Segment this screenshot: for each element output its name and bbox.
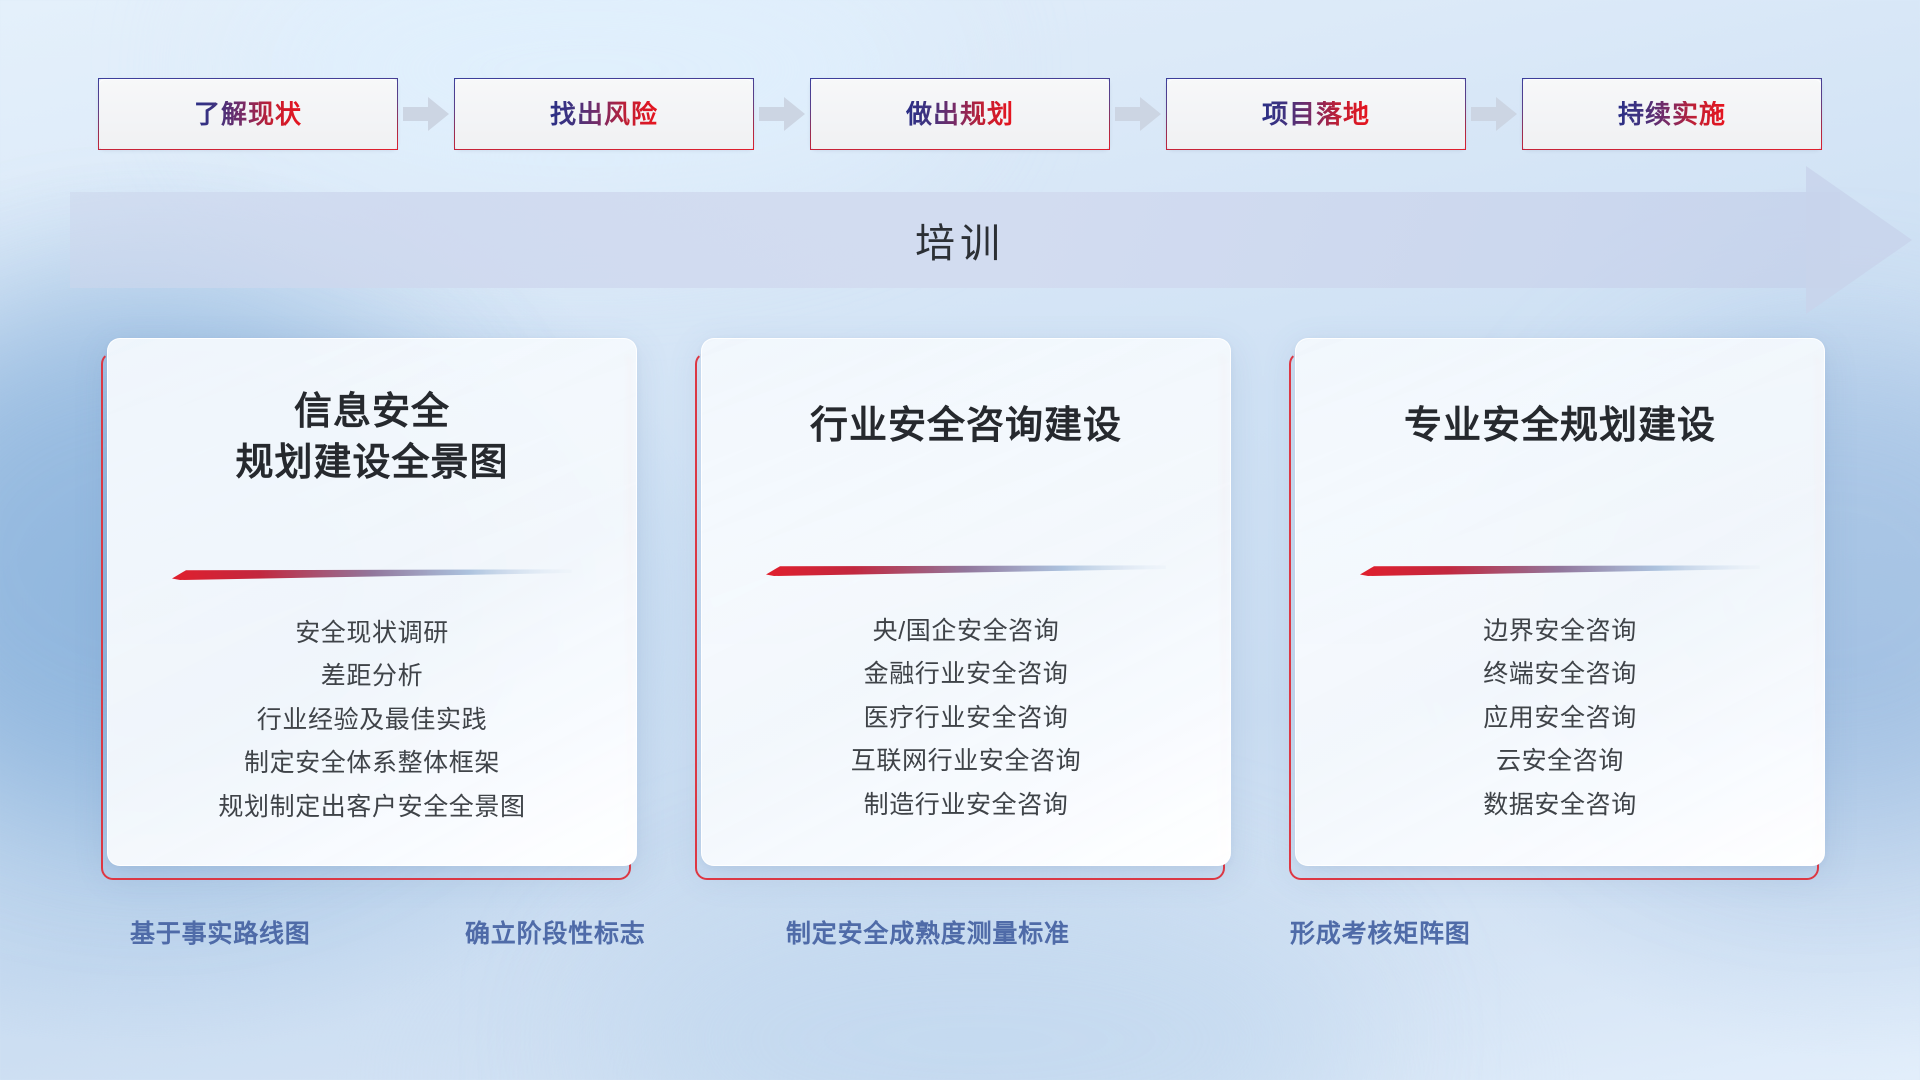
card-title: 专业安全规划建设 xyxy=(1334,401,1786,452)
process-step-row: 了解现状 找出风险 做出规划 项目落地 持续实施 xyxy=(0,78,1920,150)
background-glow-bottom xyxy=(600,880,1360,1080)
card-divider xyxy=(172,569,572,580)
list-item: 云安全咨询 xyxy=(1496,748,1624,776)
step-box-4[interactable]: 项目落地 xyxy=(1166,78,1466,150)
training-banner: 培训 xyxy=(0,192,1920,288)
card-information-security-blueprint[interactable]: 信息安全 规划建设全景图 安全现状调研 xyxy=(101,338,631,878)
step-box-3[interactable]: 做出规划 xyxy=(810,78,1110,150)
list-item: 终端安全咨询 xyxy=(1483,661,1637,689)
card-panel: 专业安全规划建设 边界安全咨询 xyxy=(1295,338,1825,866)
footer-label-3: 制定安全成熟度测量标准 xyxy=(786,912,1070,952)
step-arrow-icon-2 xyxy=(754,78,810,150)
step-box-5[interactable]: 持续实施 xyxy=(1522,78,1822,150)
card-professional-security-planning[interactable]: 专业安全规划建设 边界安全咨询 xyxy=(1289,338,1819,878)
list-item: 数据安全咨询 xyxy=(1483,792,1637,820)
card-panel: 行业安全咨询建设 央/国企安全咨询 xyxy=(701,338,1231,866)
banner-label: 培训 xyxy=(0,192,1920,288)
list-item: 规划制定出客户安全全景图 xyxy=(218,794,525,822)
card-item-list: 边界安全咨询 终端安全咨询 应用安全咨询 云安全咨询 数据安全咨询 xyxy=(1296,618,1824,820)
slide-root: { "steps": { "items": [ { "label": "了解现状… xyxy=(0,0,1920,1080)
card-divider xyxy=(1360,565,1760,576)
card-item-list: 安全现状调研 差距分析 行业经验及最佳实践 制定安全体系整体框架 规划制定出客户… xyxy=(108,620,636,822)
card-industry-security-consulting[interactable]: 行业安全咨询建设 央/国企安全咨询 xyxy=(695,338,1225,878)
step-arrow-icon-3 xyxy=(1110,78,1166,150)
list-item: 制定安全体系整体框架 xyxy=(244,750,500,778)
step-label: 找出风险 xyxy=(550,101,658,127)
list-item: 互联网行业安全咨询 xyxy=(851,748,1081,776)
footer-label-row: 基于事实路线图 确立阶段性标志 制定安全成熟度测量标准 形成考核矩阵图 xyxy=(0,912,1920,966)
card-panel: 信息安全 规划建设全景图 安全现状调研 xyxy=(107,338,637,866)
step-label: 持续实施 xyxy=(1618,101,1726,127)
step-box-2[interactable]: 找出风险 xyxy=(454,78,754,150)
footer-label-2: 确立阶段性标志 xyxy=(465,912,646,952)
list-item: 行业经验及最佳实践 xyxy=(257,707,487,735)
footer-label-4: 形成考核矩阵图 xyxy=(1290,912,1471,952)
card-divider xyxy=(766,565,1166,576)
list-item: 边界安全咨询 xyxy=(1483,618,1637,646)
list-item: 制造行业安全咨询 xyxy=(864,792,1069,820)
list-item: 差距分析 xyxy=(321,663,423,691)
card-item-list: 央/国企安全咨询 金融行业安全咨询 医疗行业安全咨询 互联网行业安全咨询 制造行… xyxy=(702,618,1230,820)
step-label: 做出规划 xyxy=(906,101,1014,127)
step-label: 了解现状 xyxy=(194,101,302,127)
footer-label-1: 基于事实路线图 xyxy=(130,912,311,952)
card-row: 信息安全 规划建设全景图 安全现状调研 xyxy=(0,338,1920,878)
list-item: 安全现状调研 xyxy=(295,620,449,648)
step-arrow-icon-1 xyxy=(398,78,454,150)
card-title: 行业安全咨询建设 xyxy=(740,401,1192,452)
step-box-1[interactable]: 了解现状 xyxy=(98,78,398,150)
list-item: 应用安全咨询 xyxy=(1483,705,1637,733)
step-label: 项目落地 xyxy=(1262,101,1370,127)
list-item: 医疗行业安全咨询 xyxy=(864,705,1069,733)
list-item: 金融行业安全咨询 xyxy=(864,661,1069,689)
list-item: 央/国企安全咨询 xyxy=(873,618,1060,646)
step-arrow-icon-4 xyxy=(1466,78,1522,150)
card-title: 信息安全 规划建设全景图 xyxy=(146,387,598,488)
